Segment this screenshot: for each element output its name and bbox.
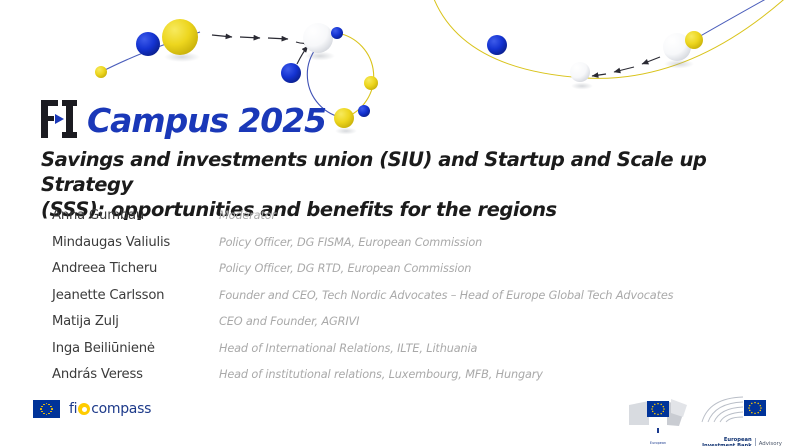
- eu-star: [48, 404, 50, 406]
- list-item: András Veress Head of institutional rela…: [52, 367, 752, 394]
- sphere-blue-orbit-small: [331, 27, 343, 39]
- speaker-role: Head of International Relations, ILTE, L…: [219, 342, 752, 355]
- brand-wordmark: Campus 2025: [87, 104, 326, 137]
- eu-star: [46, 414, 48, 416]
- speaker-name: Anna Gumbau: [52, 208, 219, 223]
- sphere-white-right-high: [663, 33, 691, 61]
- speaker-role: CEO and Founder, AGRIVI: [219, 315, 752, 328]
- speakers-list: Anna Gumbau Moderator Mindaugas Valiulis…: [52, 208, 752, 394]
- eib-divider: [755, 438, 756, 446]
- list-item: Mindaugas Valiulis Policy Officer, DG FI…: [52, 235, 752, 262]
- list-item: Jeanette Carlsson Founder and CEO, Tech …: [52, 288, 752, 315]
- eib-name: European Investment Bank: [702, 438, 752, 446]
- ec-emblem-icon: [627, 395, 689, 435]
- speaker-name: Andreea Ticheru: [52, 261, 219, 276]
- ficompass-logo: fi compass: [33, 400, 151, 418]
- european-commission-logo: European Commission: [627, 395, 689, 446]
- list-item: Andreea Ticheru Policy Officer, DG RTD, …: [52, 261, 752, 288]
- speaker-name: Mindaugas Valiulis: [52, 235, 219, 250]
- speaker-role: Moderator: [219, 209, 752, 222]
- sphere-white-orbit: [303, 23, 333, 53]
- eu-star: [43, 413, 45, 415]
- brand-lockup: Campus 2025: [40, 94, 326, 140]
- eib-caption: European Investment Bank Advisory: [699, 438, 785, 446]
- eu-star: [50, 411, 52, 413]
- eib-logo: European Investment Bank Advisory: [699, 392, 785, 446]
- sphere-yellow-orbit-bottom: [334, 108, 354, 128]
- speaker-name: Jeanette Carlsson: [52, 288, 219, 303]
- ficompass-compass-text: compass: [91, 401, 151, 417]
- list-item: Anna Gumbau Moderator: [52, 208, 752, 235]
- ficompass-fi-text: fi: [69, 401, 77, 417]
- list-item: Matija Zulj CEO and Founder, AGRIVI: [52, 314, 752, 341]
- sphere-yellow-right: [685, 31, 703, 49]
- page-title-line1: Savings and investments union (SIU) and …: [41, 147, 741, 197]
- sphere-blue-right: [487, 35, 507, 55]
- sphere-yellow-small: [95, 66, 107, 78]
- ficompass-wordmark: fi compass: [69, 401, 151, 417]
- partner-logos: European Commission: [627, 392, 785, 446]
- ec-caption: European Commission: [627, 441, 689, 446]
- eib-emblem-icon: [699, 392, 785, 432]
- speaker-role: Policy Officer, DG FISMA, European Commi…: [219, 236, 752, 249]
- sphere-white-right-low: [570, 62, 590, 82]
- sphere-blue-medium: [136, 32, 160, 56]
- speaker-name: Inga Beiliūnienė: [52, 341, 219, 356]
- eu-star: [46, 403, 48, 405]
- eu-star: [43, 404, 45, 406]
- sphere-yellow-orbit-right: [364, 76, 378, 90]
- eu-star: [51, 408, 53, 410]
- sphere-yellow-large: [162, 19, 198, 55]
- eu-star: [40, 408, 42, 410]
- slide-canvas: Campus 2025 Savings and investments unio…: [0, 0, 793, 446]
- speaker-role: Policy Officer, DG RTD, European Commiss…: [219, 262, 752, 275]
- eu-flag-icon: [33, 400, 60, 418]
- speaker-name: András Veress: [52, 367, 219, 382]
- list-item: Inga Beiliūnienė Head of International R…: [52, 341, 752, 368]
- speaker-role: Founder and CEO, Tech Nordic Advocates –…: [219, 289, 752, 302]
- eib-advisory-label: Advisory: [759, 441, 782, 446]
- speaker-name: Matija Zulj: [52, 314, 219, 329]
- eu-star: [48, 413, 50, 415]
- sphere-blue-orbit-bottom: [358, 105, 370, 117]
- fi-monogram-icon: [40, 98, 84, 140]
- compass-dot-icon: [78, 403, 90, 415]
- speaker-role: Head of institutional relations, Luxembo…: [219, 368, 752, 381]
- eu-star: [41, 406, 43, 408]
- sphere-blue-orbit-large: [281, 63, 301, 83]
- eu-star: [50, 406, 52, 408]
